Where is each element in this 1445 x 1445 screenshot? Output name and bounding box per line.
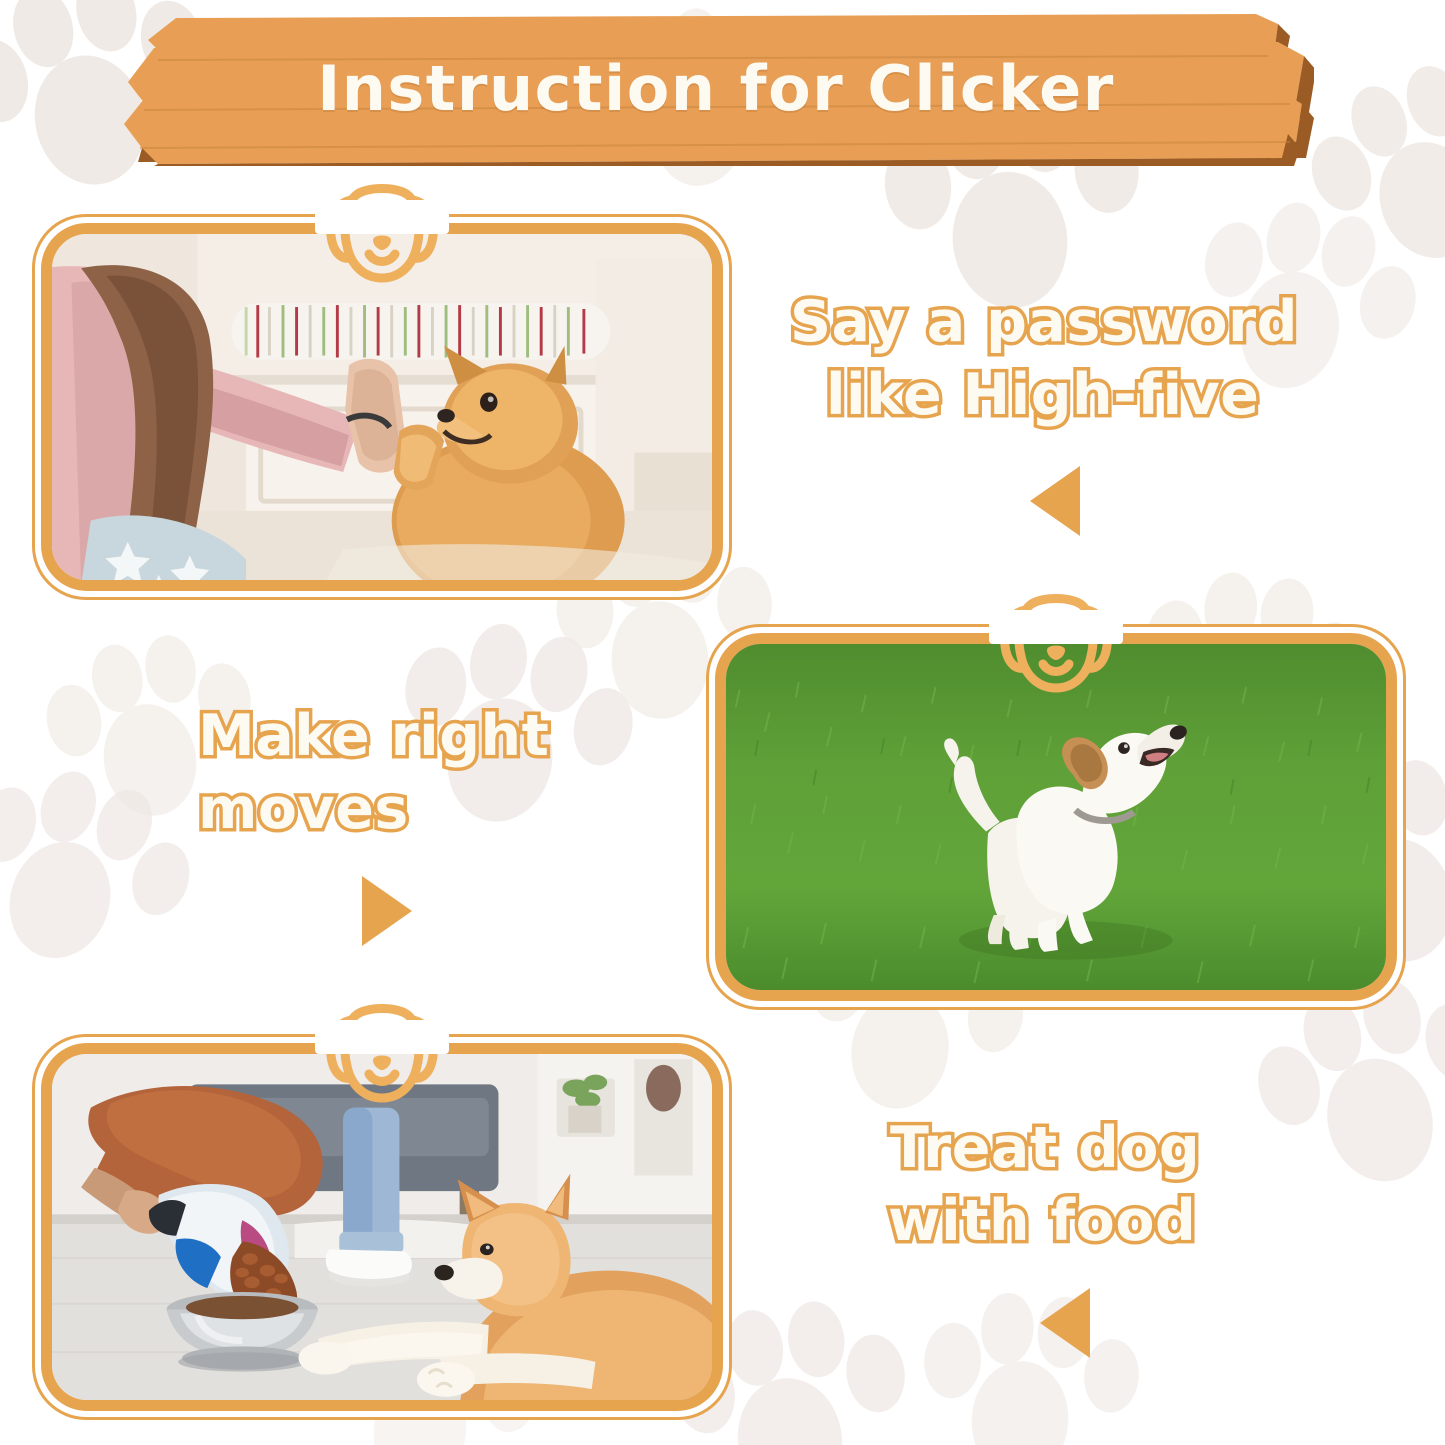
step-1-caption-line-1: Say a password xyxy=(790,286,1350,359)
step-3-caption-line-1: Treat dog xyxy=(890,1112,1390,1185)
arrow-left-icon xyxy=(1040,1288,1090,1358)
badge-backdrop xyxy=(315,200,449,234)
dog-head-icon xyxy=(981,588,1131,700)
step-3-photo-card[interactable] xyxy=(32,1034,732,1420)
dog-head-badge xyxy=(307,998,457,1110)
step-2-caption: Make right moves xyxy=(198,700,718,846)
page-title: Instruction for Clicker xyxy=(118,52,1314,125)
step-2-caption-line-2: moves xyxy=(198,773,718,846)
step-2-photo-card[interactable] xyxy=(706,624,1406,1010)
badge-backdrop xyxy=(989,610,1123,644)
dog-head-badge xyxy=(981,588,1131,700)
step-1-caption: Say a password like High-five xyxy=(790,286,1350,432)
arrow-right-icon xyxy=(362,876,412,946)
step-1-caption-line-2: like High-five xyxy=(826,359,1350,432)
instruction-poster: Instruction for Clicker xyxy=(0,0,1445,1445)
dog-head-badge xyxy=(307,178,457,290)
step-1-photo-card[interactable] xyxy=(32,214,732,600)
step-2-caption-line-1: Make right xyxy=(198,700,718,773)
arrow-left-icon xyxy=(1030,466,1080,536)
dog-head-icon xyxy=(307,178,457,290)
dog-head-icon xyxy=(307,998,457,1110)
title-banner: Instruction for Clicker xyxy=(118,14,1314,166)
paw-print-icon xyxy=(0,747,210,992)
paw-print-icon xyxy=(916,1287,1144,1445)
step-3-caption-line-2: with food xyxy=(888,1185,1390,1258)
badge-backdrop xyxy=(315,1020,449,1054)
step-3-caption: Treat dog with food xyxy=(890,1112,1390,1258)
